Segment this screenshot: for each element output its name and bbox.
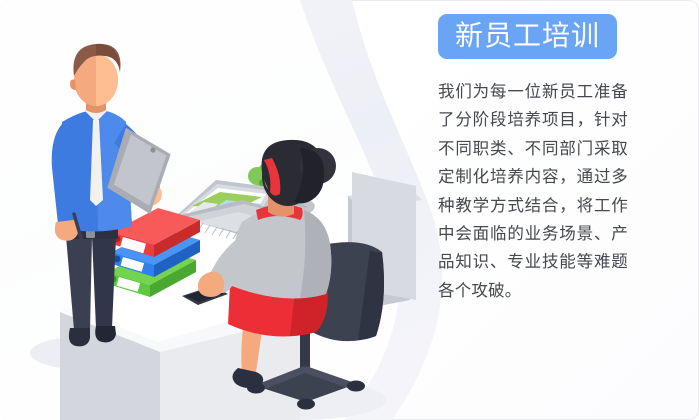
chair-caster-front [297, 399, 315, 410]
poster-canvas: 新员工培训 我们为每一位新员工准备了分阶段培养项目，针对不同职类、不同部门采取定… [0, 0, 699, 420]
man-shoe-left [69, 328, 90, 346]
poster-card: 新员工培训 我们为每一位新员工准备了分阶段培养项目，针对不同职类、不同部门采取定… [0, 0, 699, 420]
man-face-highlight [96, 54, 118, 106]
body-paragraph: 我们为每一位新员工准备了分阶段培养项目，针对不同职类、不同部门采取定制化培养内容… [438, 78, 628, 305]
chair-caster-right [347, 381, 365, 392]
man-shoe-right [95, 326, 116, 342]
man-leg-right [92, 236, 116, 328]
man-ear [70, 80, 76, 91]
page-title-badge: 新员工培训 [438, 14, 617, 59]
text-column: 新员工培训 我们为每一位新员工准备了分阶段培养项目，针对不同职类、不同部门采取定… [438, 14, 638, 305]
chair-post [300, 330, 310, 372]
